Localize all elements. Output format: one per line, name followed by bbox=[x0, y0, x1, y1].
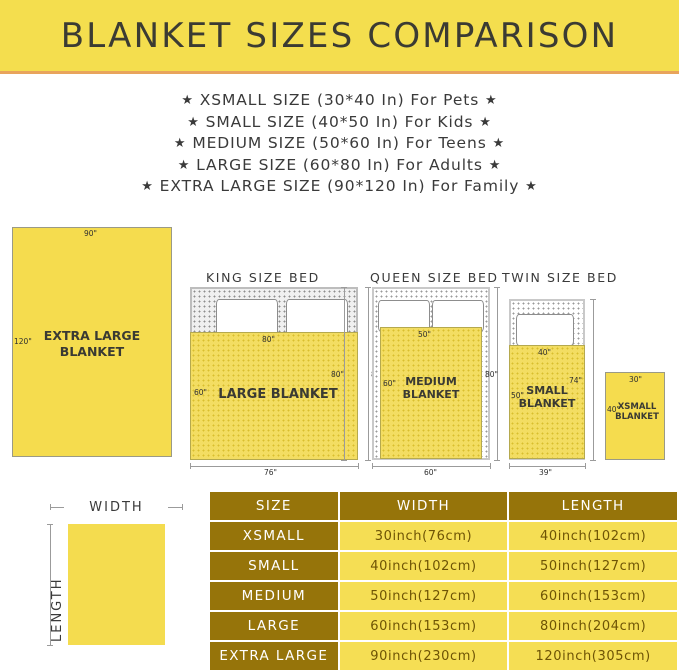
table-row: XSMALL 30inch(76cm) 40inch(102cm) bbox=[210, 522, 677, 550]
cell-width: 40inch(102cm) bbox=[340, 552, 508, 580]
star-icon: ★ bbox=[178, 158, 191, 173]
queen-bed-side-dim-left: 80" bbox=[331, 370, 344, 379]
queen-bed-bottom-dim: 60" bbox=[424, 468, 437, 477]
bullet-text: MEDIUM SIZE (50*60 In) For Teens bbox=[192, 134, 486, 152]
bullet-line: ★ MEDIUM SIZE (50*60 In) For Teens ★ bbox=[0, 133, 679, 155]
cell-size: MEDIUM bbox=[210, 582, 338, 610]
label-line-2: BLANKET bbox=[519, 397, 576, 410]
column-header-size: SIZE bbox=[210, 492, 338, 520]
queen-bottom-tick-right bbox=[490, 463, 491, 469]
cell-size: SMALL bbox=[210, 552, 338, 580]
twin-bed-side-dim: 74" bbox=[569, 376, 582, 385]
cell-length: 40inch(102cm) bbox=[509, 522, 677, 550]
column-header-length: LENGTH bbox=[509, 492, 677, 520]
queen-bed-title: QUEEN SIZE BED bbox=[370, 270, 499, 285]
cell-size: XSMALL bbox=[210, 522, 338, 550]
king-blanket-top-dim: 80" bbox=[262, 335, 275, 344]
queen-bottom-leader bbox=[372, 466, 490, 467]
queen-left-leader bbox=[344, 287, 345, 460]
extra-large-top-dim: 90" bbox=[84, 229, 97, 238]
width-length-figure: WIDTH LENGTH bbox=[20, 487, 200, 662]
bullet-text: XSMALL SIZE (30*40 In) For Pets bbox=[200, 91, 479, 109]
label-line-2: BLANKET bbox=[403, 388, 460, 401]
extra-large-side-dim: 120" bbox=[14, 337, 32, 346]
label-line-1: MEDIUM bbox=[405, 375, 457, 388]
king-bottom-tick-left bbox=[190, 463, 191, 469]
bullet-line: ★ SMALL SIZE (40*50 In) For Kids ★ bbox=[0, 112, 679, 134]
label-line-1: XSMALL bbox=[618, 402, 657, 412]
wl-length-tick-bottom bbox=[47, 645, 53, 646]
queen-left-tick-bottom bbox=[341, 460, 347, 461]
label-line-2: BLANKET bbox=[60, 344, 124, 359]
twin-right-leader bbox=[593, 299, 594, 460]
king-bottom-tick-right bbox=[358, 463, 359, 469]
king-blanket-side-dim: 60" bbox=[194, 388, 207, 397]
width-label: WIDTH bbox=[68, 500, 165, 515]
cell-length: 60inch(153cm) bbox=[509, 582, 677, 610]
wl-width-tick-left bbox=[50, 504, 51, 510]
twin-bottom-tick-right bbox=[585, 463, 586, 469]
star-icon: ★ bbox=[181, 93, 194, 108]
cell-length: 120inch(305cm) bbox=[509, 642, 677, 670]
label-line-2: BLANKET bbox=[615, 412, 659, 422]
feature-bullet-list: ★ XSMALL SIZE (30*40 In) For Pets ★ ★ SM… bbox=[0, 90, 679, 198]
bullet-text: SMALL SIZE (40*50 In) For Kids bbox=[206, 113, 474, 131]
length-label: LENGTH bbox=[50, 577, 65, 642]
wl-width-leader-left bbox=[50, 507, 64, 508]
star-icon: ★ bbox=[493, 136, 506, 151]
twin-blanket-top-dim: 40" bbox=[538, 348, 551, 357]
label-line-1: SMALL bbox=[526, 384, 567, 397]
size-table: SIZE WIDTH LENGTH XSMALL 30inch(76cm) 40… bbox=[208, 490, 679, 672]
cell-width: 60inch(153cm) bbox=[340, 612, 508, 640]
twin-blanket-side-dim: 50" bbox=[511, 391, 524, 400]
twin-bottom-leader bbox=[509, 466, 585, 467]
wl-length-tick-top bbox=[47, 524, 53, 525]
twin-right-tick-top bbox=[590, 299, 596, 300]
star-icon: ★ bbox=[489, 158, 502, 173]
king-right-tick-top bbox=[365, 287, 371, 288]
king-bottom-leader bbox=[190, 466, 358, 467]
bullet-text: LARGE SIZE (60*80 In) For Adults bbox=[196, 156, 483, 174]
cell-width: 50inch(127cm) bbox=[340, 582, 508, 610]
width-length-rect bbox=[68, 524, 165, 645]
table-row: LARGE 60inch(153cm) 80inch(204cm) bbox=[210, 612, 677, 640]
cell-width: 30inch(76cm) bbox=[340, 522, 508, 550]
twin-bed-title: TWIN SIZE BED bbox=[502, 270, 618, 285]
king-right-leader bbox=[368, 287, 369, 460]
star-icon: ★ bbox=[485, 93, 498, 108]
table-header-row: SIZE WIDTH LENGTH bbox=[210, 492, 677, 520]
king-large-blanket-label: LARGE BLANKET bbox=[208, 387, 348, 402]
twin-right-tick-bottom bbox=[590, 460, 596, 461]
table-row: MEDIUM 50inch(127cm) 60inch(153cm) bbox=[210, 582, 677, 610]
queen-right-tick-top bbox=[494, 287, 500, 288]
bullet-line: ★ EXTRA LARGE SIZE (90*120 In) For Famil… bbox=[0, 176, 679, 198]
wl-length-leader bbox=[50, 524, 51, 645]
twin-bottom-tick-left bbox=[509, 463, 510, 469]
queen-right-tick-bottom bbox=[494, 460, 500, 461]
cell-length: 80inch(204cm) bbox=[509, 612, 677, 640]
blanket-diagram-area: EXTRA LARGE BLANKET 90" 120" KING SIZE B… bbox=[0, 215, 679, 480]
queen-blanket-top-dim: 50" bbox=[418, 330, 431, 339]
queen-left-tick-top bbox=[341, 287, 347, 288]
wl-width-tick-right bbox=[182, 504, 183, 510]
queen-medium-blanket-label: MEDIUM BLANKET bbox=[382, 375, 480, 401]
bullet-line: ★ XSMALL SIZE (30*40 In) For Pets ★ bbox=[0, 90, 679, 112]
twin-pillow bbox=[516, 314, 574, 346]
star-icon: ★ bbox=[141, 179, 154, 194]
cell-size: EXTRA LARGE bbox=[210, 642, 338, 670]
queen-bottom-tick-left bbox=[372, 463, 373, 469]
wl-width-leader-right bbox=[168, 507, 182, 508]
column-header-width: WIDTH bbox=[340, 492, 508, 520]
table-row: EXTRA LARGE 90inch(230cm) 120inch(305cm) bbox=[210, 642, 677, 670]
twin-bed-bottom-dim: 39" bbox=[539, 468, 552, 477]
queen-blanket-side-dim: 60" bbox=[383, 379, 396, 388]
star-icon: ★ bbox=[479, 115, 492, 130]
table-row: SMALL 40inch(102cm) 50inch(127cm) bbox=[210, 552, 677, 580]
cell-size: LARGE bbox=[210, 612, 338, 640]
bullet-line: ★ LARGE SIZE (60*80 In) For Adults ★ bbox=[0, 155, 679, 177]
page-title: BLANKET SIZES COMPARISON bbox=[0, 16, 679, 56]
xsmall-top-dim: 30" bbox=[629, 375, 642, 384]
star-icon: ★ bbox=[525, 179, 538, 194]
xsmall-side-dim: 40" bbox=[607, 405, 620, 414]
queen-bed-side-dim-right: 80" bbox=[485, 370, 498, 379]
cell-length: 50inch(127cm) bbox=[509, 552, 677, 580]
star-icon: ★ bbox=[187, 115, 200, 130]
extra-large-blanket-label: EXTRA LARGE BLANKET bbox=[32, 328, 152, 360]
cell-width: 90inch(230cm) bbox=[340, 642, 508, 670]
king-bed-title: KING SIZE BED bbox=[206, 270, 320, 285]
label-line-1: EXTRA LARGE bbox=[44, 328, 140, 343]
king-bed-bottom-dim: 76" bbox=[264, 468, 277, 477]
king-right-tick-bottom bbox=[365, 460, 371, 461]
star-icon: ★ bbox=[174, 136, 187, 151]
bullet-text: EXTRA LARGE SIZE (90*120 In) For Family bbox=[160, 177, 520, 195]
